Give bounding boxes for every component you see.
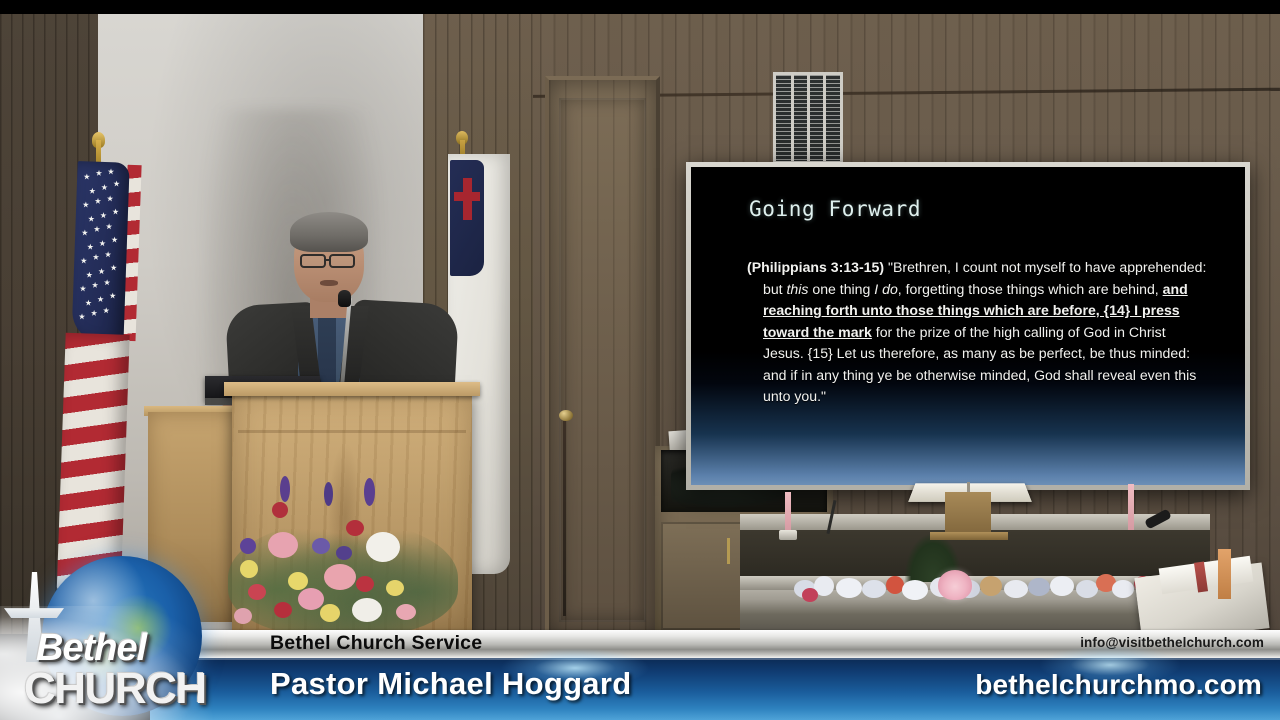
door-rod bbox=[563, 421, 566, 616]
letterbox-top bbox=[0, 0, 1280, 14]
altar-candle-right bbox=[1128, 484, 1134, 530]
flag-stripes bbox=[57, 333, 130, 593]
flag-canton: ★ ★ ★ ★ ★ ★ ★ ★ ★ ★ ★ ★ ★ ★ ★ ★ ★ ★ ★ ★ bbox=[71, 161, 129, 343]
bible-stand bbox=[945, 492, 991, 536]
bible-stand-base bbox=[930, 532, 1008, 540]
wall-air-vent bbox=[773, 72, 843, 164]
livestream-frame: Going Forward (Philippians 3:13-15) "Bre… bbox=[0, 0, 1280, 720]
vent-mullion bbox=[823, 75, 826, 161]
candle-holder-left bbox=[779, 530, 797, 540]
eyeglasses-left-lens bbox=[300, 254, 326, 268]
altar-lily bbox=[938, 570, 972, 600]
slide-surface: Going Forward (Philippians 3:13-15) "Bre… bbox=[691, 167, 1245, 485]
pulpit-trim-band bbox=[238, 430, 466, 433]
slide-text-part-2: one thing bbox=[808, 281, 874, 297]
service-title: Bethel Church Service bbox=[270, 632, 482, 655]
speaker-bar: Pastor Michael Hoggard bethelchurchmo.co… bbox=[150, 658, 1280, 720]
eyeglasses-bridge bbox=[325, 259, 331, 261]
lower-third-banner: Bethel Church Service info@visitbethelch… bbox=[0, 620, 1280, 720]
slide-body: (Philippians 3:13-15) "Brethren, I count… bbox=[747, 257, 1209, 408]
presentation-screen: Going Forward (Philippians 3:13-15) "Bre… bbox=[686, 162, 1250, 490]
pulpit-microphone bbox=[338, 290, 351, 307]
church-logo: Bethel CHURCH bbox=[0, 610, 250, 720]
mouth bbox=[320, 280, 338, 286]
hair bbox=[290, 212, 368, 252]
website-url: bethelchurchmo.com bbox=[975, 669, 1262, 701]
slide-scripture-reference: (Philippians 3:13-15) bbox=[747, 259, 884, 275]
speaker-name: Pastor Michael Hoggard bbox=[270, 666, 631, 702]
cabinet-handle bbox=[727, 538, 730, 564]
slide-italic-this: this bbox=[787, 281, 809, 297]
vent-mullion bbox=[807, 75, 810, 161]
vent-mullion bbox=[791, 75, 794, 161]
wooden-door bbox=[545, 76, 660, 634]
sanctuary-scene: Going Forward (Philippians 3:13-15) "Bre… bbox=[0, 14, 1280, 634]
tall-candle-right bbox=[1218, 549, 1231, 599]
door-knob bbox=[559, 410, 573, 421]
door-panel bbox=[559, 98, 646, 622]
pulpit-top-ledge bbox=[224, 382, 480, 396]
slide-italic-ido: I do bbox=[874, 281, 898, 297]
flower-arrangement bbox=[228, 476, 458, 634]
eyeglasses-right-lens bbox=[329, 254, 355, 268]
slide-title: Going Forward bbox=[749, 197, 921, 221]
altar-candle-left bbox=[785, 492, 791, 532]
christian-flag-cross-horizontal bbox=[454, 192, 480, 201]
slide-text-part-3: , forgetting those things which are behi… bbox=[898, 281, 1163, 297]
logo-text-church: CHURCH bbox=[24, 664, 206, 714]
